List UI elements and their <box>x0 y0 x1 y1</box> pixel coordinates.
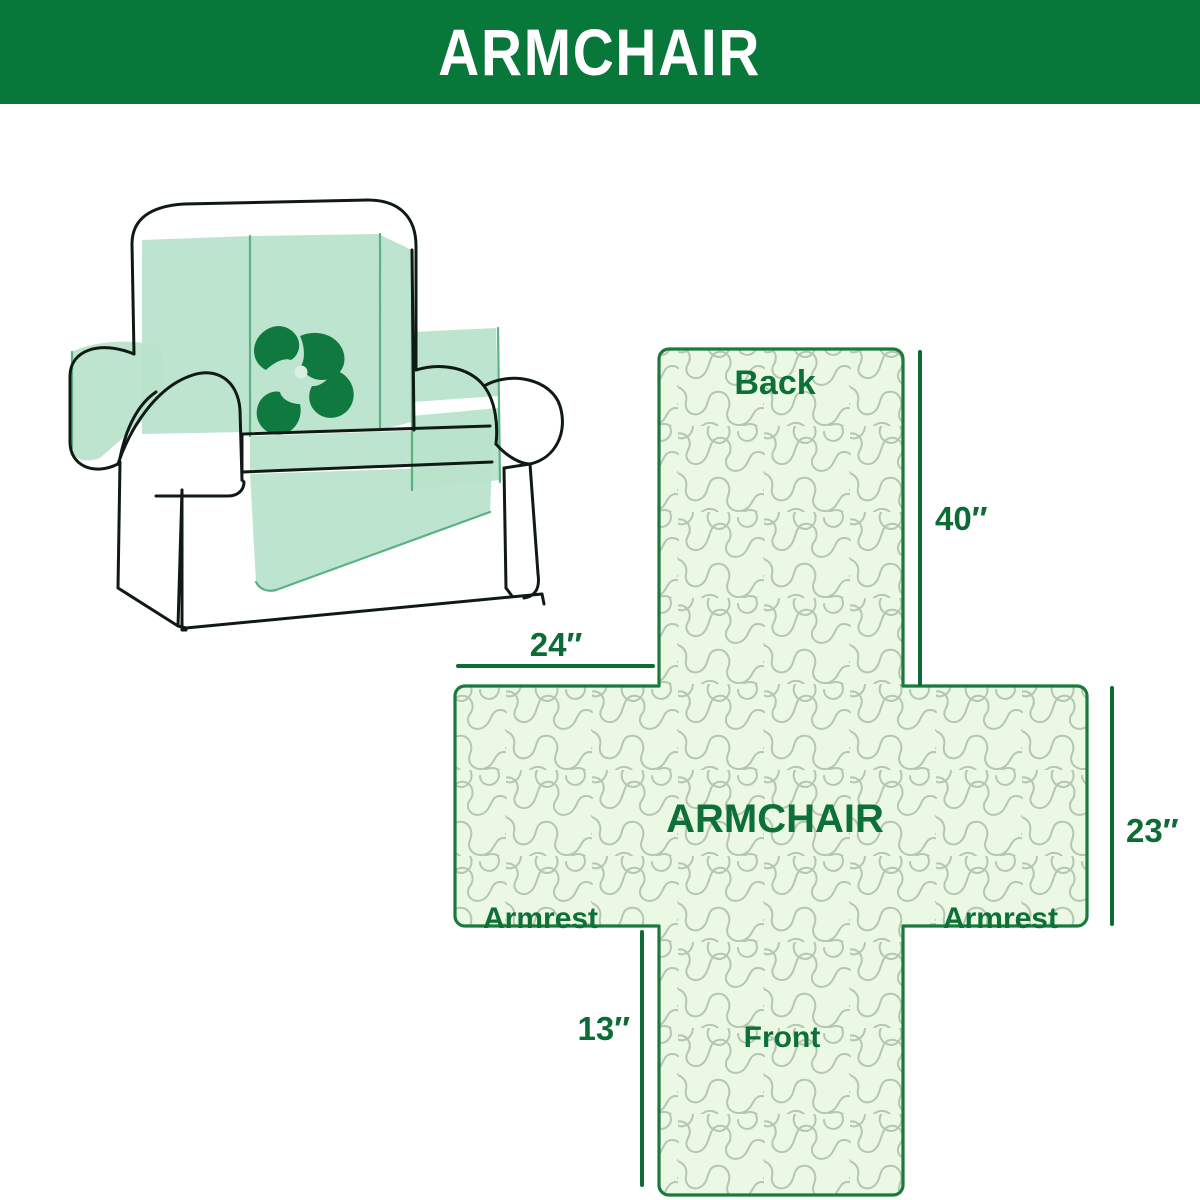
header-banner: ARMCHAIR <box>0 0 1200 104</box>
label-armrest-right: Armrest <box>943 902 1058 935</box>
slipcover-pattern-diagram: Back ARMCHAIR Armrest Armrest Front 24″ … <box>420 340 1200 1140</box>
dimension-armrest-depth: 23″ <box>1112 688 1179 924</box>
label-armrest-left: Armrest <box>483 902 598 935</box>
dimension-front-height: 13″ <box>577 932 642 1185</box>
pattern-svg: Back ARMCHAIR Armrest Armrest Front 24″ … <box>420 340 1200 1140</box>
cross-shape-fill <box>455 349 1087 1195</box>
dimension-back-width-value: 24″ <box>530 626 583 663</box>
label-armchair-center: ARMCHAIR <box>666 797 884 841</box>
page-root: ARMCHAIR <box>0 0 1200 1200</box>
page-title: ARMCHAIR <box>439 19 762 85</box>
label-back: Back <box>734 364 815 402</box>
dimension-back-height: 40″ <box>920 352 988 684</box>
dimension-back-height-value: 40″ <box>935 500 988 537</box>
label-front: Front <box>744 1021 821 1054</box>
dimension-back-width: 24″ <box>458 626 653 666</box>
dimension-front-height-value: 13″ <box>577 1010 630 1047</box>
dimension-armrest-depth-value: 23″ <box>1126 812 1179 849</box>
content-stage: Back ARMCHAIR Armrest Armrest Front 24″ … <box>0 104 1200 1200</box>
